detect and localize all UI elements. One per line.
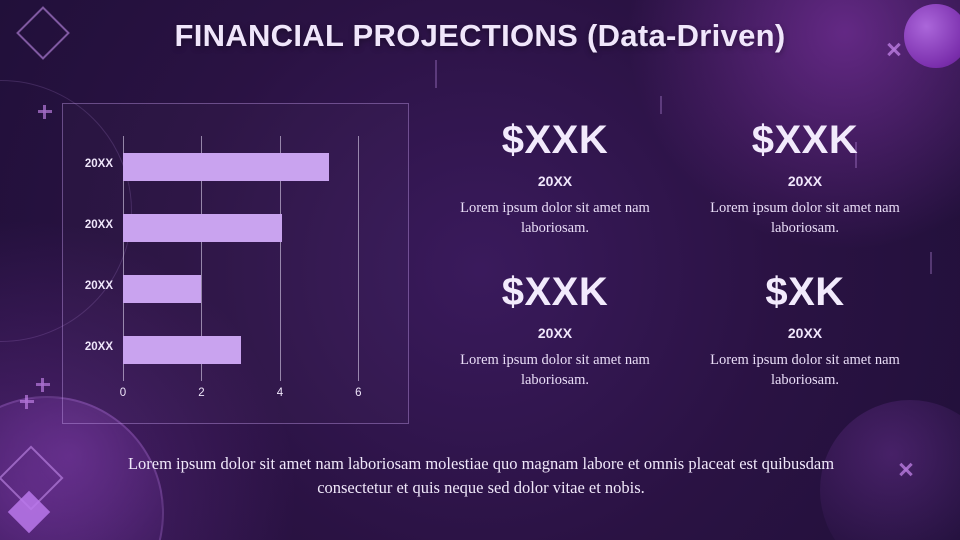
chart-x-tick-label: 4	[277, 387, 283, 399]
slide: FINANCIAL PROJECTIONS (Data-Driven) 20XX…	[0, 0, 960, 540]
chart-category-label: 20XX	[85, 341, 113, 353]
stat-value: $XK	[686, 272, 924, 312]
stat-card: $XXK 20XX Lorem ipsum dolor sit amet nam…	[436, 120, 674, 238]
chart-bar-row: 20XX	[123, 275, 201, 303]
decorative-diamond-icon	[0, 445, 64, 510]
decorative-bar	[930, 252, 932, 274]
chart-category-label: 20XX	[85, 219, 113, 231]
chart-bar	[123, 336, 241, 364]
chart-x-tick-label: 0	[120, 387, 126, 399]
chart-x-tick-label: 2	[198, 387, 204, 399]
decorative-bar	[660, 96, 662, 114]
footer-text: Lorem ipsum dolor sit amet nam laboriosa…	[110, 452, 852, 500]
stat-card: $XK 20XX Lorem ipsum dolor sit amet nam …	[686, 272, 924, 390]
chart-bar	[123, 214, 282, 242]
decorative-diamond-filled-icon	[8, 491, 50, 533]
decorative-bar	[435, 60, 437, 88]
stat-value: $XXK	[436, 272, 674, 312]
chart-x-axis: 0246	[123, 381, 378, 401]
chart-bars: 20XX20XX20XX20XX	[123, 136, 378, 381]
decorative-plus-icon	[38, 105, 52, 119]
chart-bar-row: 20XX	[123, 214, 282, 242]
chart-bar	[123, 153, 329, 181]
stat-description: Lorem ipsum dolor sit amet nam laboriosa…	[686, 351, 924, 390]
decorative-plus-icon	[36, 378, 50, 392]
stat-description: Lorem ipsum dolor sit amet nam laboriosa…	[436, 199, 674, 238]
chart-x-tick-label: 6	[355, 387, 361, 399]
chart-panel: 20XX20XX20XX20XX 0246	[62, 103, 409, 424]
chart-category-label: 20XX	[85, 280, 113, 292]
stats-grid: $XXK 20XX Lorem ipsum dolor sit amet nam…	[436, 120, 924, 390]
stat-year: 20XX	[436, 325, 674, 341]
stat-value: $XXK	[686, 120, 924, 160]
stat-year: 20XX	[686, 325, 924, 341]
stat-year: 20XX	[686, 173, 924, 189]
stat-year: 20XX	[436, 173, 674, 189]
stat-description: Lorem ipsum dolor sit amet nam laboriosa…	[436, 351, 674, 390]
bar-chart: 20XX20XX20XX20XX 0246	[123, 136, 378, 381]
decorative-x-icon	[898, 462, 914, 478]
stat-card: $XXK 20XX Lorem ipsum dolor sit amet nam…	[686, 120, 924, 238]
chart-bar-row: 20XX	[123, 153, 329, 181]
chart-category-label: 20XX	[85, 158, 113, 170]
stat-description: Lorem ipsum dolor sit amet nam laboriosa…	[686, 199, 924, 238]
page-title: FINANCIAL PROJECTIONS (Data-Driven)	[0, 18, 960, 54]
stat-card: $XXK 20XX Lorem ipsum dolor sit amet nam…	[436, 272, 674, 390]
chart-bar-row: 20XX	[123, 336, 241, 364]
stat-value: $XXK	[436, 120, 674, 160]
chart-bar	[123, 275, 201, 303]
decorative-plus-icon	[20, 395, 34, 409]
